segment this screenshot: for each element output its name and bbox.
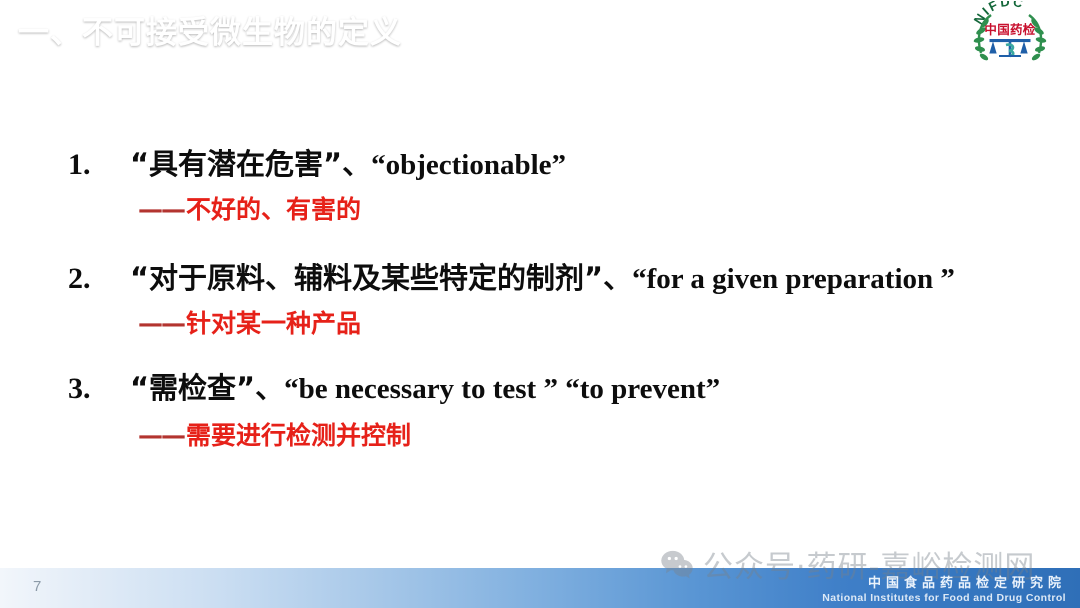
- list-item-sub: ——需要进行检测并控制: [138, 420, 411, 456]
- list-item-sub-text: 不好的、有害的: [186, 195, 361, 224]
- list-item-sub-text: 需要进行检测并控制: [186, 421, 411, 450]
- nifdc-logo-graphic: NIFDC 中国药检: [963, 1, 1057, 69]
- list-item-text-en: “be necessary to test ” “to prevent”: [284, 373, 720, 405]
- scale-emblem-icon: [990, 40, 1030, 57]
- nifdc-logo: NIFDC 中国药检: [963, 1, 1057, 69]
- list-item-text-en: “for a given preparation ”: [632, 263, 955, 295]
- svg-text:中国药检: 中国药检: [984, 22, 1035, 37]
- list-item-main: 2.“对于原料、辅料及某些特定的制剂”、“for a given prepara…: [68, 260, 955, 297]
- list-item-text-en: “objectionable”: [371, 149, 566, 181]
- page-title: 一、不可接受微生物的定义: [18, 7, 402, 59]
- list-item-sub-text: 针对某一种产品: [186, 309, 361, 338]
- organization-name-cn: 中国食品药品检定研究院: [822, 577, 1066, 591]
- list-item-number: 2.: [68, 261, 130, 297]
- organization-name-en: National Institutes for Food and Drug Co…: [822, 593, 1066, 604]
- em-dash-marker: ——: [138, 421, 184, 450]
- slide-canvas: 一、不可接受微生物的定义: [0, 0, 1080, 608]
- list-item-number: 3.: [68, 371, 130, 407]
- em-dash-marker: ——: [138, 195, 184, 224]
- list-item-number: 1.: [68, 147, 130, 183]
- list-item-text-cn: “对于原料、辅料及某些特定的制剂”、: [130, 261, 632, 295]
- page-number: 7: [33, 578, 41, 595]
- list-item-sub: ——针对某一种产品: [138, 308, 361, 344]
- em-dash-marker: ——: [138, 309, 184, 338]
- list-item-text-cn: “具有潜在危害”、: [130, 147, 371, 181]
- list-item-sub: ——不好的、有害的: [138, 194, 361, 230]
- slide-body: 1.“具有潜在危害”、“objectionable” ——不好的、有害的 2.“…: [0, 70, 1080, 568]
- list-item-main: 3.“需检查”、“be necessary to test ” “to prev…: [68, 370, 720, 407]
- list-item-main: 1.“具有潜在危害”、“objectionable”: [68, 146, 566, 183]
- organization-footer: 中国食品药品检定研究院 National Institutes for Food…: [822, 577, 1066, 604]
- list-item-text-cn: “需检查”、: [130, 371, 284, 405]
